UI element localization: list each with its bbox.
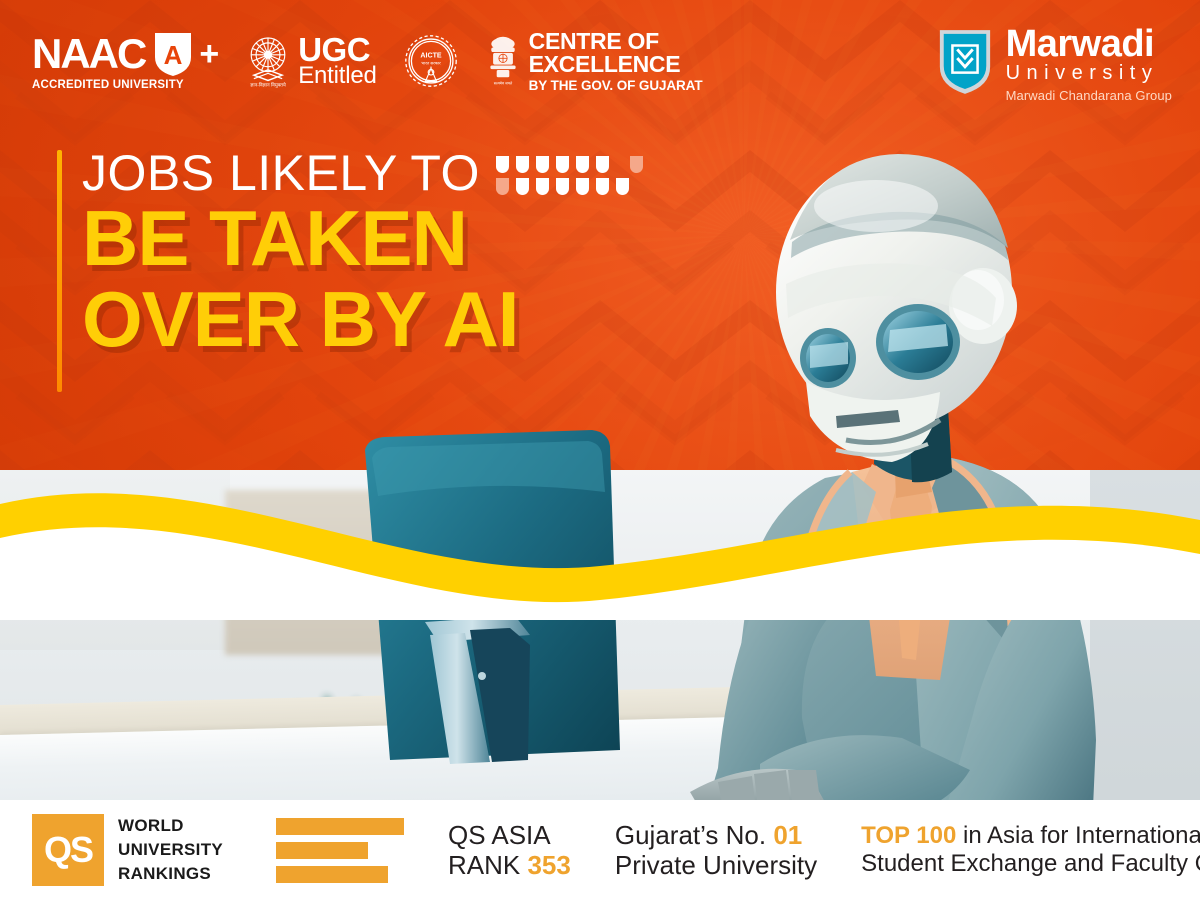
coe-line-2: EXCELLENCE (529, 53, 703, 76)
stat-top-100-asia: TOP 100 in Asia for Internationalisation… (861, 822, 1200, 878)
ugc-emblem-caption: ज्ञान-विज्ञान विमुक्तये (250, 82, 286, 89)
qs-world-university-rankings-logo: QS WORLD UNIVERSITY RANKINGS (0, 814, 404, 886)
ashoka-chakra-icon: ज्ञान-विज्ञान विमुक्तये (245, 33, 291, 89)
ugc-entitled-label: Entitled (298, 65, 376, 88)
svg-text:A: A (164, 40, 183, 70)
naac-logo: NAAC A + ACCREDITED UNIVERSITY (32, 31, 219, 91)
naac-subtitle: ACCREDITED UNIVERSITY (32, 79, 219, 91)
ashoka-pillar-icon: सत्यमेव जयते (485, 34, 521, 88)
ugc-wordmark: UGC (298, 34, 376, 65)
marwadi-name-line2: University (1006, 62, 1172, 85)
qs-word-world: WORLD (118, 816, 266, 836)
dotted-shield-decoration (496, 156, 643, 195)
marwadi-shield-logo-icon (936, 26, 994, 96)
naac-shield-icon: A (153, 31, 193, 77)
stat-qs-asia-line1: QS ASIA (448, 820, 571, 850)
coe-line-3: BY THE GOV. OF GUJARAT (529, 79, 703, 93)
centre-of-excellence-logo: सत्यमेव जयते CENTRE OF EXCELLENCE BY THE… (485, 30, 703, 93)
accreditation-logo-strip: NAAC A + ACCREDITED UNIVERSITY (32, 22, 702, 100)
marwadi-university-logo[interactable]: Marwadi University Marwadi Chandarana Gr… (936, 26, 1172, 103)
marketing-banner: NAAC A + ACCREDITED UNIVERSITY (0, 0, 1200, 900)
stat-top100-line2: Student Exchange and Faculty Quality (861, 850, 1200, 878)
qs-word-university: UNIVERSITY (118, 840, 266, 860)
naac-plus-sign: + (199, 35, 219, 74)
stat-qs-asia-rank-value: 353 (527, 850, 570, 880)
qs-mark-text: QS (44, 829, 92, 871)
qs-word-rankings: RANKINGS (118, 864, 266, 884)
svg-text:सत्यमेव जयते: सत्यमेव जयते (493, 80, 512, 85)
headline-line-3: OVER BY AI (82, 279, 722, 360)
stat-qs-asia-line2: RANK 353 (448, 850, 571, 880)
headline-line-2: BE TAKEN (82, 198, 722, 279)
stat-qs-asia-rank-label: RANK (448, 850, 527, 880)
qs-mark-icon: QS (32, 814, 104, 886)
headline-line-1: JOBS LIKELY TO (82, 148, 480, 198)
stat-gujarat-label: Gujarat’s No. (615, 820, 773, 850)
stat-qs-asia-rank: QS ASIA RANK 353 (448, 820, 571, 880)
hero-headline: JOBS LIKELY TO BE TAKEN OVER BY AI (82, 148, 722, 360)
stat-gujarat-rank: Gujarat’s No. 01 Private University (615, 820, 817, 880)
aicte-logo: AICTE भारत सरकार (403, 32, 459, 90)
yellow-wave-divider (0, 480, 1200, 620)
marwadi-tagline: Marwadi Chandarana Group (1006, 88, 1172, 103)
stat-gujarat-line1: Gujarat’s No. 01 (615, 820, 817, 850)
stat-gujarat-line2: Private University (615, 850, 817, 880)
svg-text:भारत सरकार: भारत सरकार (421, 61, 441, 66)
stat-gujarat-value: 01 (773, 820, 802, 850)
qs-accent-bar-2 (276, 842, 368, 859)
headline-accent-bar (57, 150, 62, 392)
marwadi-name-line1: Marwadi (1006, 26, 1172, 62)
qs-accent-bar-3 (276, 866, 388, 883)
aicte-gear-icon: AICTE भारत सरकार (403, 32, 459, 90)
qs-accent-bar-1 (276, 818, 404, 835)
rankings-bottom-bar: QS WORLD UNIVERSITY RANKINGS QS ASIA (0, 800, 1200, 900)
stat-top100-line1: TOP 100 in Asia for Internationalisation… (861, 822, 1200, 850)
stat-top100-label: in Asia for Internationalisation, (956, 822, 1200, 849)
svg-text:AICTE: AICTE (420, 51, 442, 59)
naac-wordmark: NAAC (32, 35, 145, 74)
ugc-logo: ज्ञान-विज्ञान विमुक्तये UGC Entitled (245, 33, 376, 89)
stat-top100-value: TOP 100 (861, 822, 956, 849)
coe-line-1: CENTRE OF (529, 30, 703, 53)
